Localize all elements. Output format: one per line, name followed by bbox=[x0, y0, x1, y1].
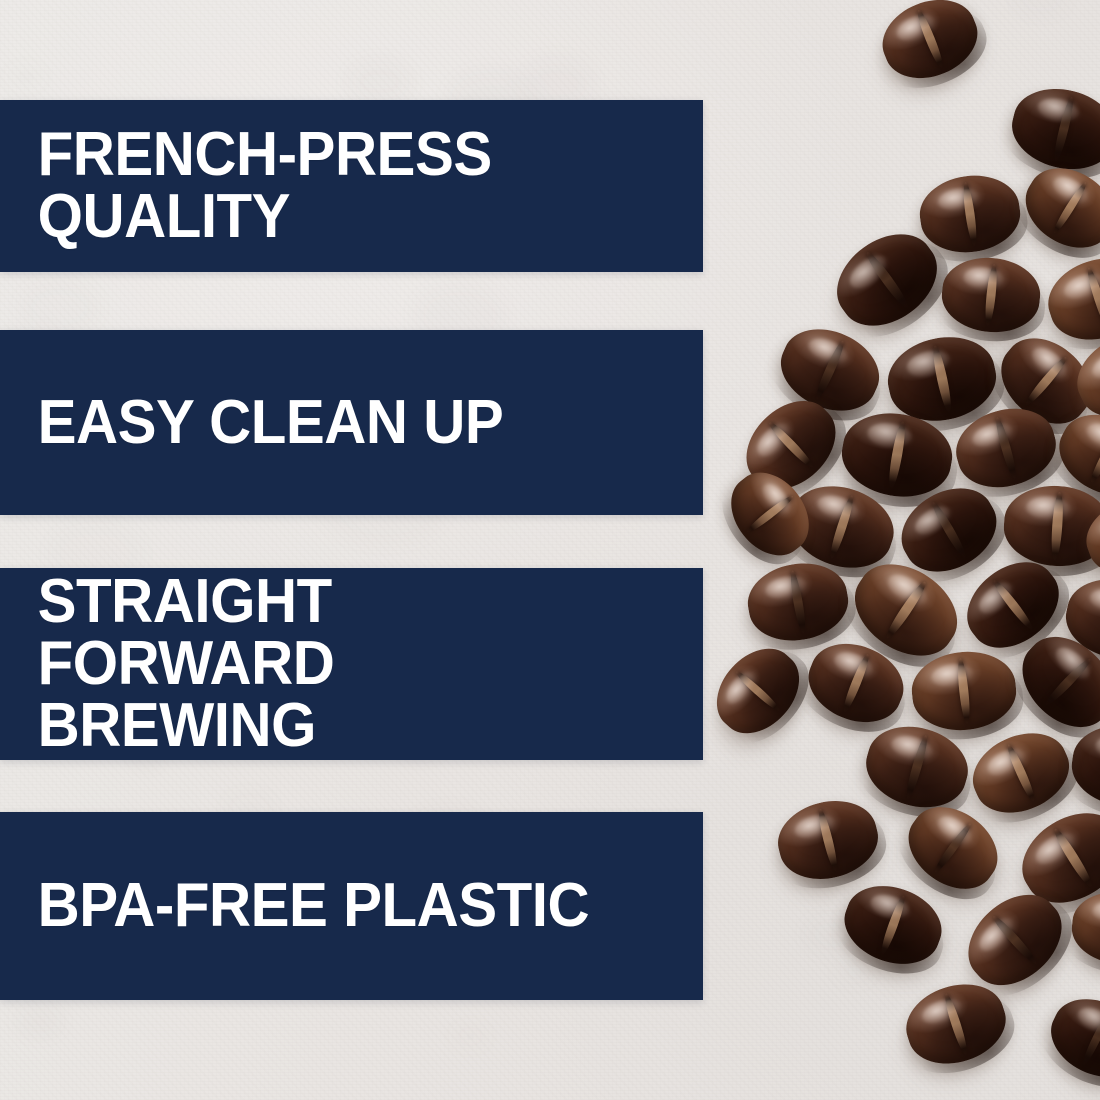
product-feature-graphic: FRENCH-PRESS QUALITYEASY CLEAN UPSTRAIGH… bbox=[0, 0, 1100, 1100]
coffee-bean bbox=[938, 253, 1043, 337]
feature-bar-easy-clean-up: EASY CLEAN UP bbox=[0, 330, 703, 515]
feature-bar-straight-forward-brewing: STRAIGHT FORWARD BREWING bbox=[0, 568, 703, 760]
feature-bar-label: STRAIGHT FORWARD BREWING bbox=[0, 571, 661, 757]
feature-bar-french-press-quality: FRENCH-PRESS QUALITY bbox=[0, 100, 703, 272]
feature-bar-bpa-free-plastic: BPA-FREE PLASTIC bbox=[0, 812, 703, 1000]
feature-bar-label: FRENCH-PRESS QUALITY bbox=[0, 124, 518, 248]
coffee-bean bbox=[742, 556, 854, 648]
coffee-bean bbox=[908, 647, 1020, 735]
feature-bar-label: EASY CLEAN UP bbox=[0, 392, 530, 454]
feature-bar-label: BPA-FREE PLASTIC bbox=[0, 875, 615, 937]
